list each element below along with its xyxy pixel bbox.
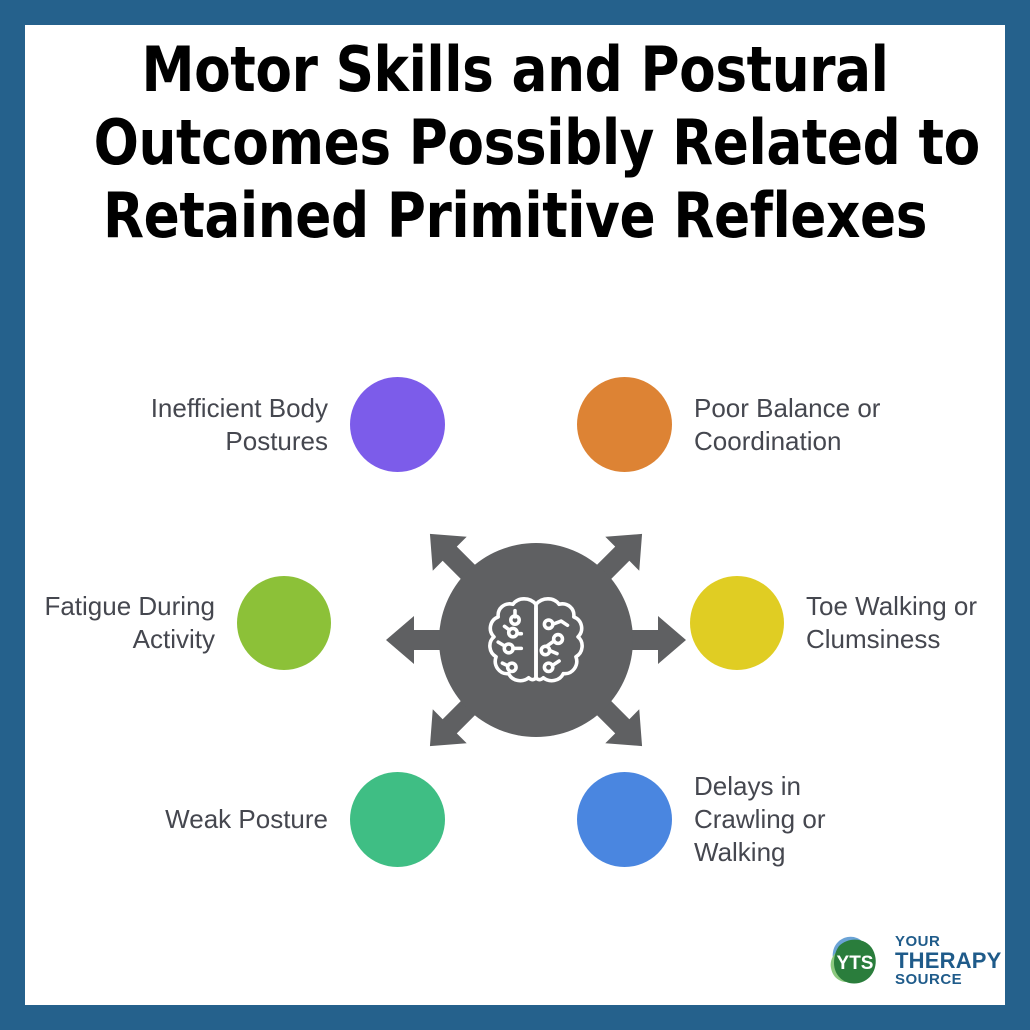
central-hub (386, 490, 686, 790)
node-inefficient-body-postures[interactable]: Inefficient Body Postures (120, 377, 445, 472)
infographic-canvas: Motor Skills and Postural Outcomes Possi… (0, 0, 1030, 1030)
node-delays-crawling-walking[interactable]: Delays in Crawling or Walking (577, 772, 977, 867)
node-dot-teal (350, 772, 445, 867)
logo-monogram: YTS (837, 953, 874, 974)
page-title: Motor Skills and Postural Outcomes Possi… (25, 25, 1005, 252)
title-line-2: Outcomes Possibly Related to (94, 106, 937, 179)
node-label: Inefficient Body Postures (151, 392, 350, 458)
brand-logo[interactable]: YTS YOUR THERAPY SOURCE (825, 930, 1000, 992)
node-dot-purple (350, 377, 445, 472)
title-line-1: Motor Skills and Postural (94, 33, 937, 106)
content-area: Motor Skills and Postural Outcomes Possi… (25, 25, 1005, 1005)
node-dot-green (237, 576, 331, 670)
logo-wordmark: YOUR THERAPY SOURCE (895, 934, 1002, 987)
title-line-3: Retained Primitive Reflexes (94, 179, 937, 252)
node-weak-posture[interactable]: Weak Posture (140, 772, 445, 867)
node-dot-blue (577, 772, 672, 867)
yts-logo-icon: YTS (825, 932, 889, 990)
node-dot-yellow (690, 576, 784, 670)
logo-line-therapy: THERAPY (895, 950, 1002, 972)
logo-line-source: SOURCE (895, 972, 1002, 987)
node-fatigue-during-activity[interactable]: Fatigue During Activity (25, 575, 331, 670)
node-dot-orange (577, 377, 672, 472)
node-label: Poor Balance or Coordination (672, 392, 880, 458)
node-label: Fatigue During Activity (44, 590, 237, 656)
node-toe-walking-clumsiness[interactable]: Toe Walking or Clumsiness (690, 575, 1030, 670)
node-label: Toe Walking or Clumsiness (784, 590, 977, 656)
node-poor-balance-coordination[interactable]: Poor Balance or Coordination (577, 377, 977, 472)
node-label: Delays in Crawling or Walking (672, 770, 826, 869)
node-label: Weak Posture (165, 803, 350, 836)
